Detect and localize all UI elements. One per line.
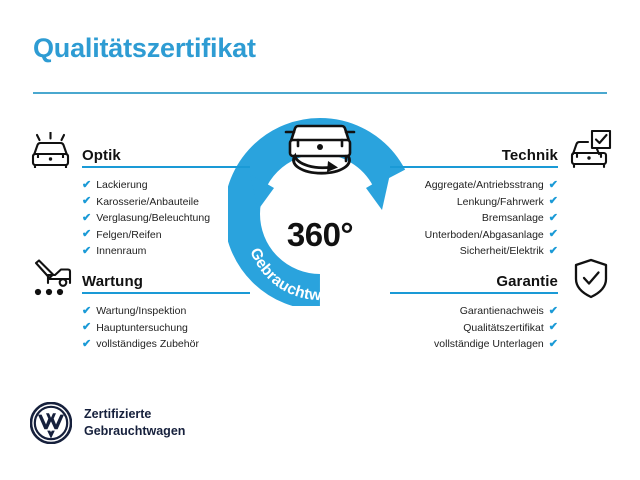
list-item: ✔Verglasung/Beleuchtung	[82, 210, 250, 227]
checklist-wartung: ✔Wartung/Inspektion ✔Hauptuntersuchung ✔…	[82, 303, 250, 353]
list-item-label: Karosserie/Anbauteile	[96, 194, 199, 211]
list-item: ✔Wartung/Inspektion	[82, 303, 250, 320]
list-item: Sicherheit/Elektrik✔	[390, 243, 558, 260]
check-icon: ✔	[549, 322, 558, 333]
section-optik: Optik ✔Lackierung ✔Karosserie/Anbauteile…	[82, 140, 250, 260]
section-divider-garantie	[390, 292, 558, 294]
car-wrench-icon	[28, 258, 74, 298]
list-item-label: vollständiges Zubehör	[96, 336, 199, 353]
section-wartung: Wartung ✔Wartung/Inspektion ✔Hauptunters…	[82, 266, 250, 353]
check-icon: ✔	[82, 322, 91, 333]
check-icon: ✔	[82, 306, 91, 317]
list-item: vollständige Unterlagen✔	[390, 336, 558, 353]
checklist-garantie: Garantienachweis✔ Qualitätszertifikat✔ v…	[390, 303, 558, 353]
section-title-garantie: Garantie	[496, 273, 558, 290]
section-title-technik: Technik	[502, 147, 558, 164]
list-item-label: Aggregate/Antriebsstrang	[425, 177, 544, 194]
check-icon: ✔	[549, 196, 558, 207]
list-item-label: Lackierung	[96, 177, 147, 194]
check-icon: ✔	[82, 196, 91, 207]
check-icon: ✔	[82, 229, 91, 240]
check-icon: ✔	[82, 213, 91, 224]
car-rotation-icon	[286, 126, 354, 173]
vw-certified-footer: Zertifizierte Gebrauchtwagen	[30, 402, 185, 444]
section-title-optik: Optik	[82, 147, 121, 164]
title-divider	[33, 92, 607, 94]
list-item: Lenkung/Fahrwerk✔	[390, 194, 558, 211]
list-item-label: Felgen/Reifen	[96, 227, 161, 244]
check-icon: ✔	[549, 180, 558, 191]
checklist-technik: Aggregate/Antriebsstrang✔ Lenkung/Fahrwe…	[390, 177, 558, 260]
badge-degrees: 360°	[228, 216, 412, 254]
list-item-label: Lenkung/Fahrwerk	[457, 194, 544, 211]
list-item-label: Hauptuntersuchung	[96, 320, 188, 337]
list-item: ✔Karosserie/Anbauteile	[82, 194, 250, 211]
check-icon: ✔	[82, 180, 91, 191]
list-item: ✔vollständiges Zubehör	[82, 336, 250, 353]
car-shine-icon	[28, 132, 74, 172]
list-item-label: Unterboden/Abgasanlage	[425, 227, 544, 244]
shield-check-icon	[572, 258, 610, 300]
footer-line-1: Zertifizierte	[84, 406, 185, 423]
list-item: Unterboden/Abgasanlage✔	[390, 227, 558, 244]
section-divider-technik	[390, 166, 558, 168]
list-item: ✔Hauptuntersuchung	[82, 320, 250, 337]
car-checkbox-icon	[566, 130, 612, 170]
check-icon: ✔	[82, 246, 91, 257]
list-item-label: Qualitätszertifikat	[463, 320, 544, 337]
section-technik: Technik Aggregate/Antriebsstrang✔ Lenkun…	[390, 140, 558, 260]
list-item-label: Verglasung/Beleuchtung	[96, 210, 210, 227]
list-item: ✔Felgen/Reifen	[82, 227, 250, 244]
vw-logo-icon	[30, 402, 72, 444]
list-item: ✔Innenraum	[82, 243, 250, 260]
list-item: ✔Lackierung	[82, 177, 250, 194]
360-check-badge: Gebrauchtwagen-Check 360°	[228, 112, 412, 306]
list-item-label: Wartung/Inspektion	[96, 303, 186, 320]
section-divider-wartung	[82, 292, 250, 294]
check-icon: ✔	[549, 246, 558, 257]
check-icon: ✔	[549, 229, 558, 240]
section-title-wartung: Wartung	[82, 273, 143, 290]
list-item: Qualitätszertifikat✔	[390, 320, 558, 337]
list-item: Bremsanlage✔	[390, 210, 558, 227]
page-title: Qualitätszertifikat	[33, 33, 256, 64]
check-icon: ✔	[549, 306, 558, 317]
list-item-label: vollständige Unterlagen	[434, 336, 544, 353]
list-item-label: Garantienachweis	[460, 303, 544, 320]
list-item: Aggregate/Antriebsstrang✔	[390, 177, 558, 194]
list-item-label: Innenraum	[96, 243, 146, 260]
check-icon: ✔	[549, 339, 558, 350]
check-icon: ✔	[82, 339, 91, 350]
footer-line-2: Gebrauchtwagen	[84, 423, 185, 440]
section-divider-optik	[82, 166, 250, 168]
list-item-label: Bremsanlage	[482, 210, 544, 227]
checklist-optik: ✔Lackierung ✔Karosserie/Anbauteile ✔Verg…	[82, 177, 250, 260]
section-garantie: Garantie Garantienachweis✔ Qualitätszert…	[390, 266, 558, 353]
check-icon: ✔	[549, 213, 558, 224]
list-item: Garantienachweis✔	[390, 303, 558, 320]
list-item-label: Sicherheit/Elektrik	[460, 243, 544, 260]
